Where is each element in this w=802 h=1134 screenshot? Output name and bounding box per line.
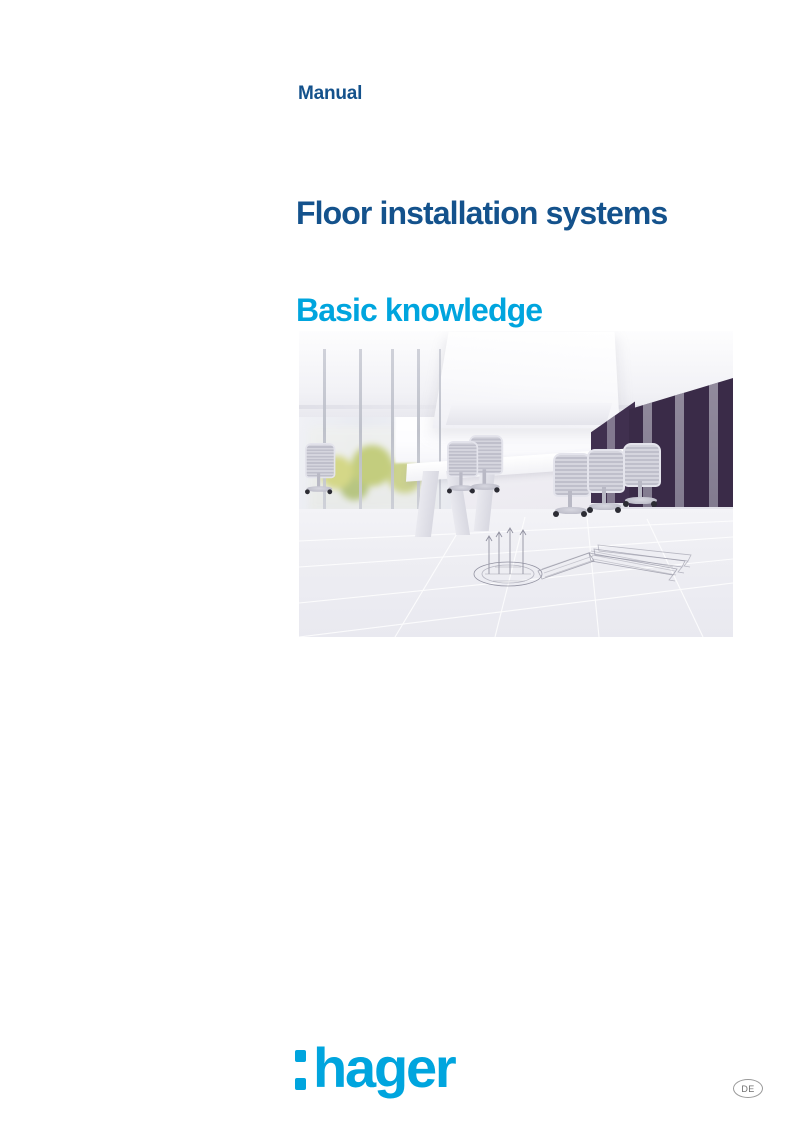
cover-photo (299, 331, 733, 637)
language-badge: DE (733, 1079, 763, 1098)
hager-colon-icon (295, 1050, 306, 1090)
tiled-floor (299, 509, 733, 637)
hager-logo: hager (295, 1038, 455, 1098)
ceiling-panel-face (446, 403, 612, 425)
document-kicker: Manual (298, 84, 362, 103)
cover-page: Manual Floor installation systems Basic … (0, 0, 802, 1134)
page-title: Floor installation systems (296, 197, 667, 231)
hager-wordmark: hager (313, 1040, 455, 1096)
page-subtitle: Basic knowledge (296, 294, 542, 328)
